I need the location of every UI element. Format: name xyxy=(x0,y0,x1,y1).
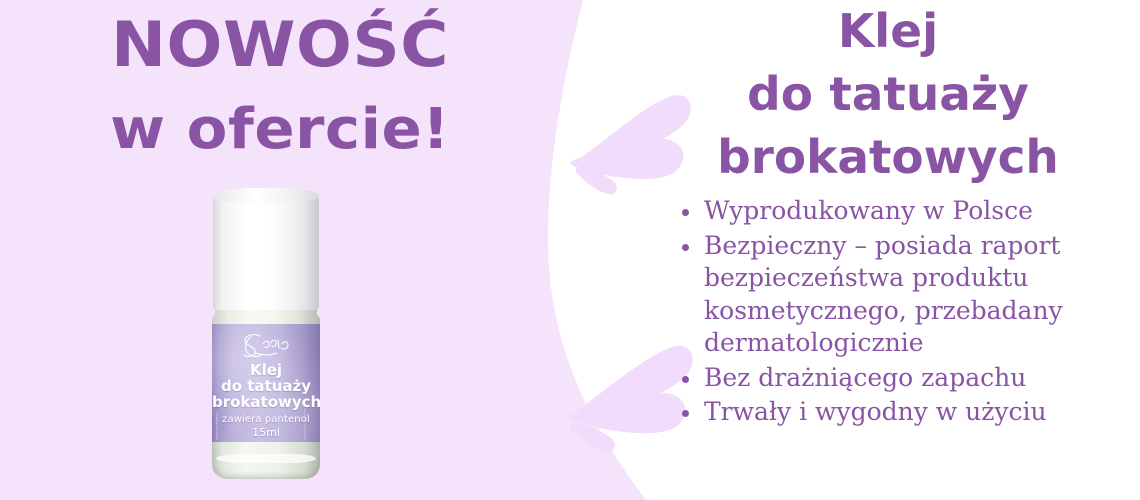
bottle-cap xyxy=(213,190,319,310)
bottle-label-subtitle: zawiera pantenol xyxy=(212,415,320,426)
bottle-label: skład ingredients produkt kosmetyczny Kl… xyxy=(212,324,320,442)
list-item: Bezpieczny – posiada raport bezpieczeńst… xyxy=(672,230,1128,360)
brand-script-logo-icon xyxy=(238,331,294,361)
product-headline: Klej do tatuaży brokatowych xyxy=(636,8,1140,180)
bottle-cap-top xyxy=(213,188,319,204)
product-headline-line1: Klej xyxy=(631,8,1140,54)
bottle-label-text: Klej do tatuaży brokatowych zawiera pant… xyxy=(212,362,320,439)
list-item: Wyprodukowany w Polsce xyxy=(672,195,1128,228)
feature-list: Wyprodukowany w Polsce Bezpieczny – posi… xyxy=(672,195,1128,431)
bottle-label-volume: 15ml xyxy=(212,427,320,439)
left-headline-line2: w ofercie! xyxy=(0,102,577,158)
product-headline-line2: do tatuaży xyxy=(631,71,1140,117)
product-bottle-image: skład ingredients produkt kosmetyczny Kl… xyxy=(196,186,346,486)
bottle-label-line2: do tatuaży xyxy=(212,378,320,394)
list-item: Trwały i wygodny w użyciu xyxy=(672,396,1128,429)
list-item: Bez drażniącego zapachu xyxy=(672,362,1128,395)
bottle-base-highlight xyxy=(216,454,316,463)
left-headline-line1: NOWOŚĆ xyxy=(0,14,577,76)
left-headline: NOWOŚĆ w ofercie! xyxy=(0,14,560,158)
promo-banner: NOWOŚĆ w ofercie! Klej do tatuaży brokat… xyxy=(0,0,1140,500)
product-headline-line3: brokatowych xyxy=(631,134,1140,180)
bottle-label-line3: brokatowych xyxy=(212,394,320,410)
bottle-label-line1: Klej xyxy=(212,362,320,378)
